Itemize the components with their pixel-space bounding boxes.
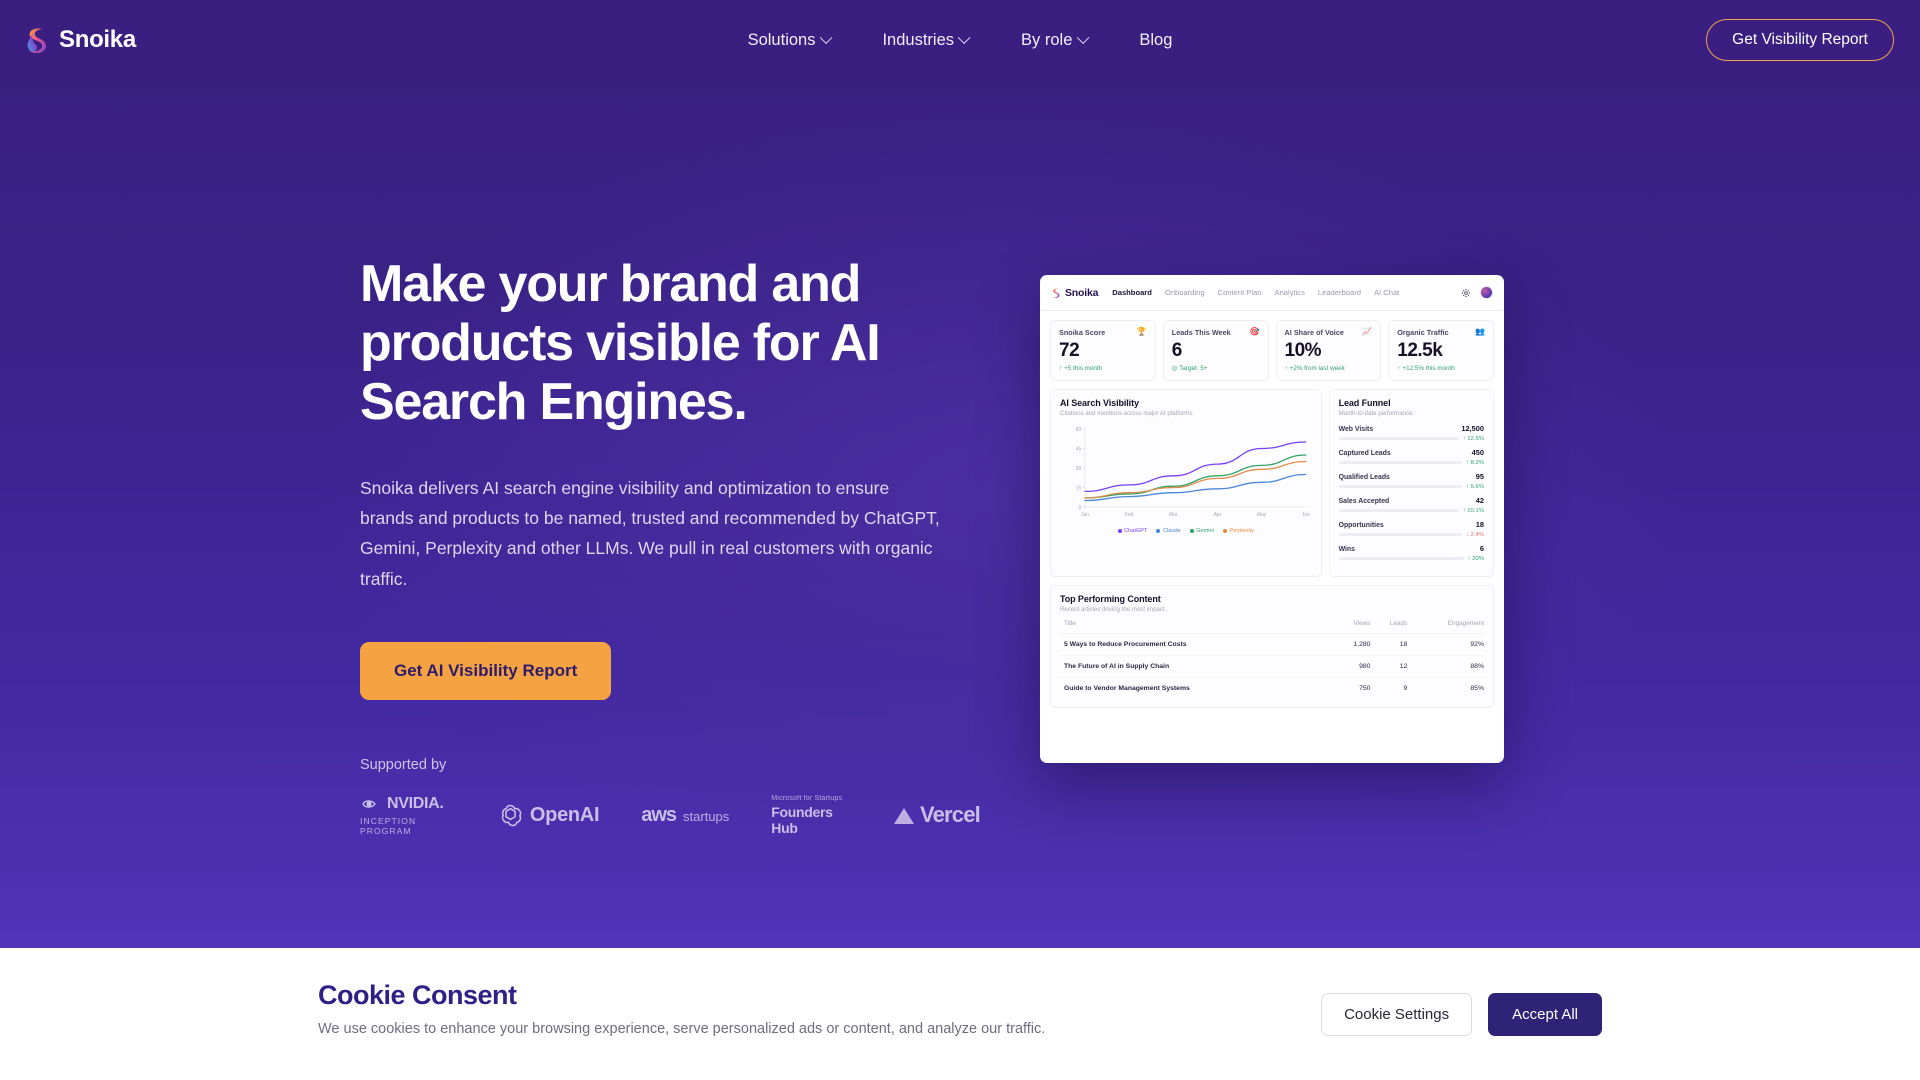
nav-item-blog[interactable]: Blog [1139, 31, 1172, 50]
funnel-row-label: Wins [1339, 546, 1355, 553]
cell-views: 980 [1334, 656, 1370, 678]
svg-text:0: 0 [1078, 505, 1081, 511]
svg-text:60: 60 [1076, 427, 1082, 433]
cell-leads: 12 [1370, 656, 1407, 678]
svg-text:Jan: Jan [1081, 512, 1089, 518]
funnel-row-delta: ↑ 20% [1468, 556, 1484, 562]
column-header-leads: Leads [1370, 620, 1407, 634]
cookie-consent-description: We use cookies to enhance your browsing … [318, 1021, 1045, 1037]
tab-leaderboard[interactable]: Leaderboard [1318, 288, 1361, 297]
openai-knot-icon [498, 803, 523, 828]
kpi-label: AI Share of Voice [1285, 328, 1344, 337]
kpi-delta-text: Target: 5+ [1179, 365, 1207, 372]
logo-aws-startups: aws startups [641, 804, 729, 827]
kpi-value: 12.5k [1397, 340, 1485, 362]
chart-legend: ChatGPTClaudeGeminiPerplexity [1060, 528, 1312, 534]
funnel-row-label: Qualified Leads [1339, 474, 1390, 481]
funnel-row-label: Captured Leads [1339, 450, 1391, 457]
snoika-flame-logo-icon [24, 25, 50, 55]
column-header-title: Title [1060, 620, 1334, 634]
dashboard-mid-row: AI Search Visibility Citations and menti… [1050, 389, 1494, 577]
svg-text:Feb: Feb [1125, 512, 1134, 518]
cell-title: Guide to Vendor Management Systems [1060, 678, 1334, 700]
svg-text:Apr: Apr [1214, 512, 1222, 518]
funnel-row-delta: ↓ 2.4% [1466, 532, 1484, 538]
table-header-row: Title Views Leads Engagement [1060, 620, 1484, 634]
funnel-row-value: 18 [1476, 520, 1484, 529]
funnel-row-label: Web Visits [1339, 426, 1374, 433]
table-row[interactable]: 5 Ways to Reduce Procurement Costs1,2801… [1060, 634, 1484, 656]
landing-page: Snoika Solutions Industries By role Blog… [0, 0, 1920, 1080]
target-icon: 🎯 [1250, 328, 1260, 336]
card-title: Top Performing Content [1060, 594, 1484, 604]
funnel-row: Wins6↑ 20% [1339, 544, 1484, 562]
tab-ai-chat[interactable]: AI Chat [1374, 288, 1399, 297]
column-header-views: Views [1334, 620, 1370, 634]
accept-all-button[interactable]: Accept All [1488, 993, 1602, 1036]
funnel-row-label: Opportunities [1339, 522, 1384, 529]
funnel-row-delta: ↑ 10.1% [1463, 508, 1484, 514]
tab-dashboard[interactable]: Dashboard [1112, 288, 1152, 297]
kpi-value: 6 [1172, 340, 1260, 362]
kpi-card-leads-this-week: Leads This Week 🎯 6 ◎ Target: 5+ [1163, 320, 1269, 381]
tab-content-plan[interactable]: Content Plan [1218, 288, 1262, 297]
funnel-progress-bar [1339, 485, 1462, 488]
legend-item-chatgpt: ChatGPT [1118, 528, 1148, 534]
svg-text:45: 45 [1076, 446, 1082, 452]
cell-views: 750 [1334, 678, 1370, 700]
line-chart: 015304560JanFebMarAprMayJun [1060, 423, 1312, 527]
table-body: 5 Ways to Reduce Procurement Costs1,2801… [1060, 634, 1484, 700]
logo-vercel: Vercel [892, 802, 980, 828]
funnel-progress-bar [1339, 557, 1464, 560]
legend-label: Claude [1163, 528, 1181, 534]
dashboard-topbar-actions [1461, 286, 1493, 299]
cookie-actions: Cookie Settings Accept All [1321, 993, 1602, 1036]
kpi-delta: ↑ +5 this month [1059, 365, 1147, 372]
lead-funnel-card: Lead Funnel Month-to-date performance. W… [1329, 389, 1494, 577]
logo-text: Founders Hub [771, 804, 850, 836]
legend-color-dot [1223, 529, 1227, 533]
nav-item-solutions[interactable]: Solutions [748, 31, 831, 50]
svg-text:Mar: Mar [1169, 512, 1178, 518]
nav-item-label: Solutions [748, 31, 816, 50]
cell-title: 5 Ways to Reduce Procurement Costs [1060, 634, 1334, 656]
logo-subtext: Microsoft for Startups [771, 795, 842, 802]
funnel-progress-bar [1339, 509, 1459, 512]
nav-item-by-role[interactable]: By role [1021, 31, 1087, 50]
table-row[interactable]: Guide to Vendor Management Systems750985… [1060, 678, 1484, 700]
get-ai-visibility-report-button[interactable]: Get AI Visibility Report [360, 642, 611, 700]
cell-engagement: 92% [1407, 634, 1484, 656]
funnel-progress-bar [1339, 437, 1459, 440]
cookie-consent-banner: Cookie Consent We use cookies to enhance… [0, 948, 1920, 1080]
card-title: AI Search Visibility [1060, 398, 1312, 408]
kpi-delta-text: +5 this month [1064, 365, 1102, 372]
svg-text:May: May [1257, 512, 1267, 518]
dashboard-body: Snoika Score 🏆 72 ↑ +5 this month Leads … [1040, 311, 1504, 708]
funnel-row: Qualified Leads95↑ 5.6% [1339, 472, 1484, 490]
card-subtitle: Recent articles driving the most impact. [1060, 606, 1484, 613]
card-subtitle: Month-to-date performance. [1339, 410, 1484, 417]
avatar[interactable] [1480, 286, 1493, 299]
brand-logo[interactable]: Snoika [24, 25, 136, 55]
funnel-row-label: Sales Accepted [1339, 498, 1390, 505]
column-header-engagement: Engagement [1407, 620, 1484, 634]
funnel-row: Captured Leads450↑ 8.2% [1339, 448, 1484, 466]
funnel-progress-bar [1339, 533, 1462, 536]
arrow-up-icon: ↑ [1059, 365, 1062, 372]
nav-item-label: Blog [1139, 31, 1172, 50]
funnel-row: Sales Accepted42↑ 10.1% [1339, 496, 1484, 514]
legend-color-dot [1118, 529, 1122, 533]
logo-text: aws [641, 804, 676, 827]
kpi-row: Snoika Score 🏆 72 ↑ +5 this month Leads … [1050, 320, 1494, 381]
page-title: Make your brand and products visible for… [360, 255, 980, 431]
nav-item-label: Industries [882, 31, 954, 50]
funnel-row-delta: ↑ 8.2% [1466, 460, 1484, 466]
logo-text: NVIDIA. [387, 795, 444, 813]
funnel-row: Web Visits12,500↑ 12.5% [1339, 424, 1484, 442]
gear-icon[interactable] [1461, 288, 1471, 298]
cell-engagement: 85% [1407, 678, 1484, 700]
kpi-value: 10% [1285, 340, 1373, 362]
get-visibility-report-button[interactable]: Get Visibility Report [1706, 19, 1894, 61]
cell-views: 1,280 [1334, 634, 1370, 656]
kpi-delta: ↑ +12.5% this month [1397, 365, 1485, 372]
trophy-icon: 🏆 [1137, 328, 1147, 336]
nav-item-label: By role [1021, 31, 1072, 50]
legend-label: ChatGPT [1124, 528, 1147, 534]
cell-engagement: 88% [1407, 656, 1484, 678]
funnel-row-value: 12,500 [1461, 424, 1484, 433]
funnel-row-delta: ↑ 12.5% [1463, 436, 1484, 442]
kpi-delta: ↑ +2% from last week [1285, 365, 1373, 372]
chevron-down-icon [1077, 31, 1090, 44]
funnel-rows: Web Visits12,500↑ 12.5%Captured Leads450… [1339, 424, 1484, 562]
logo-subtext: startups [683, 809, 729, 824]
kpi-delta: ◎ Target: 5+ [1172, 365, 1260, 372]
partner-logos: NVIDIA. INCEPTION PROGRAM OpenAI aws sta… [360, 795, 980, 836]
funnel-row-value: 95 [1476, 472, 1484, 481]
logo-nvidia-inception: NVIDIA. INCEPTION PROGRAM [360, 795, 456, 836]
arrow-up-icon: ↑ [1397, 365, 1400, 372]
cookie-consent-title: Cookie Consent [318, 980, 1045, 1011]
arrow-up-icon: ↑ [1285, 365, 1288, 372]
svg-text:Jun: Jun [1302, 512, 1310, 518]
content-table: Title Views Leads Engagement 5 Ways to R… [1060, 620, 1484, 699]
cookie-text-block: Cookie Consent We use cookies to enhance… [318, 980, 1045, 1037]
dashboard-brand: Snoika [1051, 287, 1098, 299]
cell-leads: 18 [1370, 634, 1407, 656]
hero-subtitle: Snoika delivers AI search engine visibil… [360, 473, 945, 593]
chart-svg: 015304560JanFebMarAprMayJun [1060, 423, 1312, 527]
dashboard-preview: Snoika Dashboard Onboarding Content Plan… [1040, 275, 1504, 763]
legend-item-gemini: Gemini [1190, 528, 1214, 534]
nav-links: Solutions Industries By role Blog [748, 31, 1173, 50]
top-navigation-bar: Snoika Solutions Industries By role Blog… [0, 0, 1920, 80]
kpi-label: Organic Traffic [1397, 328, 1448, 337]
funnel-row-value: 42 [1476, 496, 1484, 505]
kpi-delta-text: +12.5% this month [1402, 365, 1454, 372]
kpi-label: Leads This Week [1172, 328, 1231, 337]
top-performing-content-card: Top Performing Content Recent articles d… [1050, 585, 1494, 708]
legend-item-perplexity: Perplexity [1223, 528, 1254, 534]
funnel-row: Opportunities18↓ 2.4% [1339, 520, 1484, 538]
chevron-down-icon [820, 31, 833, 44]
dashboard-brand-name: Snoika [1065, 287, 1098, 299]
logo-founders-hub: Microsoft for Startups Founders Hub [771, 795, 850, 836]
logo-openai: OpenAI [498, 803, 599, 828]
legend-label: Gemini [1196, 528, 1214, 534]
table-row[interactable]: The Future of AI in Supply Chain9801288% [1060, 656, 1484, 678]
brand-name: Snoika [59, 26, 136, 54]
kpi-value: 72 [1059, 340, 1147, 362]
legend-label: Perplexity [1229, 528, 1254, 534]
tab-onboarding[interactable]: Onboarding [1165, 288, 1205, 297]
kpi-label: Snoika Score [1059, 328, 1105, 337]
funnel-progress-bar [1339, 461, 1462, 464]
trend-up-icon: 📈 [1362, 328, 1372, 336]
hero-section: Make your brand and products visible for… [360, 255, 980, 836]
cell-title: The Future of AI in Supply Chain [1060, 656, 1334, 678]
svg-text:30: 30 [1076, 466, 1082, 472]
funnel-row-value: 450 [1472, 448, 1484, 457]
logo-subtext: INCEPTION PROGRAM [360, 816, 456, 836]
card-subtitle: Citations and mentions across major AI p… [1060, 410, 1312, 417]
logo-text: OpenAI [530, 804, 599, 827]
nvidia-eye-icon [360, 797, 382, 811]
cookie-settings-button[interactable]: Cookie Settings [1321, 993, 1472, 1036]
kpi-card-snoika-score: Snoika Score 🏆 72 ↑ +5 this month [1050, 320, 1156, 381]
supported-by-label: Supported by [360, 757, 980, 773]
dashboard-topbar: Snoika Dashboard Onboarding Content Plan… [1040, 275, 1504, 311]
legend-color-dot [1190, 529, 1194, 533]
kpi-delta-text: +2% from last week [1290, 365, 1345, 372]
legend-color-dot [1156, 529, 1160, 533]
users-icon: 👥 [1475, 328, 1485, 336]
chevron-down-icon [958, 31, 971, 44]
tab-analytics[interactable]: Analytics [1275, 288, 1305, 297]
funnel-row-value: 6 [1480, 544, 1484, 553]
funnel-row-delta: ↑ 5.6% [1466, 484, 1484, 490]
legend-item-claude: Claude [1156, 528, 1180, 534]
kpi-card-ai-share-of-voice: AI Share of Voice 📈 10% ↑ +2% from last … [1276, 320, 1382, 381]
check-circle-icon: ◎ [1172, 365, 1178, 372]
vercel-triangle-icon [892, 805, 916, 826]
kpi-card-organic-traffic: Organic Traffic 👥 12.5k ↑ +12.5% this mo… [1388, 320, 1494, 381]
cell-leads: 9 [1370, 678, 1407, 700]
snoika-flame-logo-icon [1051, 287, 1061, 299]
ai-search-visibility-card: AI Search Visibility Citations and menti… [1050, 389, 1322, 577]
card-title: Lead Funnel [1339, 398, 1484, 408]
nav-item-industries[interactable]: Industries [882, 31, 969, 50]
dashboard-tabs: Dashboard Onboarding Content Plan Analyt… [1112, 288, 1399, 297]
svg-text:15: 15 [1076, 485, 1082, 491]
logo-text: Vercel [920, 802, 980, 828]
